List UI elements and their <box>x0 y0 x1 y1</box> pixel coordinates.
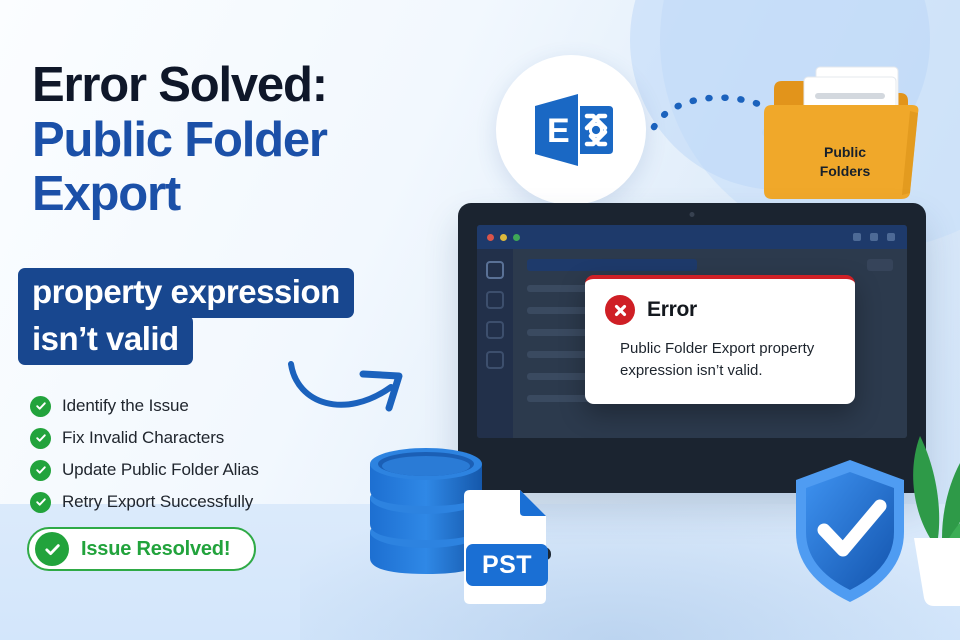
settings-icon[interactable] <box>887 233 895 241</box>
headline-line-1: Error Solved: <box>32 60 462 112</box>
traffic-light-dots <box>487 234 520 241</box>
check-circle-icon <box>30 396 51 417</box>
back-icon[interactable] <box>853 233 861 241</box>
list-item: Retry Export Successfully <box>30 486 259 518</box>
error-dialog: Error Public Folder Export property expr… <box>585 275 855 404</box>
window-title-bar <box>477 225 907 249</box>
refresh-icon[interactable] <box>870 233 878 241</box>
open-folder-icon: Public Folders <box>760 65 930 205</box>
check-circle-icon <box>30 428 51 449</box>
close-dot-icon[interactable] <box>487 234 494 241</box>
list-item[interactable] <box>527 259 697 271</box>
mail-icon[interactable] <box>486 291 504 309</box>
check-circle-icon <box>35 532 69 566</box>
clock-icon[interactable] <box>486 351 504 369</box>
toolbar-icons <box>853 233 895 241</box>
monitor-screen: Error Public Folder Export property expr… <box>477 225 907 438</box>
check-circle-icon <box>30 460 51 481</box>
status-badge-label: Issue Resolved! <box>81 538 230 561</box>
microsoft-exchange-logo-icon: E <box>496 55 646 205</box>
file-icon: PST <box>458 488 550 606</box>
highlight-banner: property expression isn’t valid <box>18 268 454 365</box>
infographic-canvas: Error Solved: Public Folder Export prope… <box>0 0 960 640</box>
checklist-label: Retry Export Successfully <box>62 492 253 512</box>
maximize-dot-icon[interactable] <box>513 234 520 241</box>
checklist: Identify the Issue Fix Invalid Character… <box>30 390 259 518</box>
folder-icon[interactable] <box>486 321 504 339</box>
list-item: Fix Invalid Characters <box>30 422 259 454</box>
highlight-line-2: isn’t valid <box>18 315 193 365</box>
headline-block: Error Solved: Public Folder Export <box>32 60 462 222</box>
headline-line-2: Public Folder Export <box>32 114 432 222</box>
file-type-label: PST <box>466 544 548 586</box>
checklist-label: Fix Invalid Characters <box>62 428 224 448</box>
list-item: Identify the Issue <box>30 390 259 422</box>
check-circle-icon <box>30 492 51 513</box>
list-item: Update Public Folder Alias <box>30 454 259 486</box>
status-badge: Issue Resolved! <box>27 527 256 571</box>
checklist-label: Identify the Issue <box>62 396 189 416</box>
app-sidebar <box>477 249 513 438</box>
checklist-label: Update Public Folder Alias <box>62 460 259 480</box>
error-x-circle-icon <box>605 295 635 325</box>
minimize-dot-icon[interactable] <box>500 234 507 241</box>
error-dialog-title: Error <box>647 298 697 322</box>
desktop-monitor: Error Public Folder Export property expr… <box>458 203 926 493</box>
webcam-dot-icon <box>690 212 695 217</box>
content-badge <box>867 259 893 271</box>
highlight-line-1: property expression <box>18 268 354 318</box>
svg-text:E: E <box>547 112 570 150</box>
error-dialog-message: Public Folder Export property expression… <box>605 338 820 382</box>
potted-plant-icon <box>890 430 960 610</box>
curved-arrow-right-icon <box>283 352 423 424</box>
home-icon[interactable] <box>486 261 504 279</box>
error-dialog-header: Error <box>605 295 835 325</box>
